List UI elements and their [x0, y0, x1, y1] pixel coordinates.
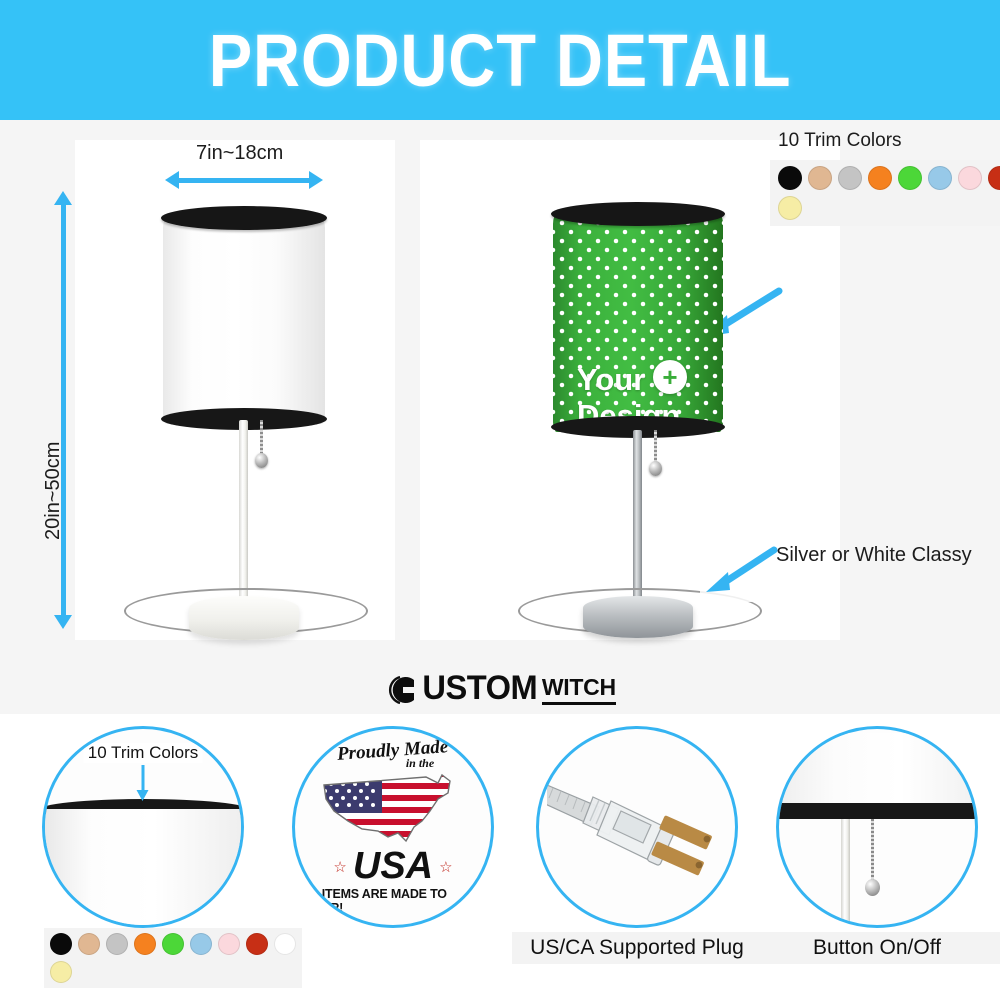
- base-pointer-arrow: [700, 540, 780, 602]
- swatch-green[interactable]: [898, 166, 922, 190]
- swatch-pink-b[interactable]: [218, 933, 240, 955]
- base-material-label: Silver or White Classy: [776, 544, 972, 567]
- star-left-icon: ☆: [333, 858, 346, 876]
- pull-chain-green: [654, 430, 657, 464]
- swatch-orange-b[interactable]: [134, 933, 156, 955]
- lamp-shade-plain: [163, 206, 325, 424]
- lamp-base-white: [189, 596, 299, 640]
- lamp-shade-green: Your Design +: [553, 202, 723, 434]
- brand-name-secondary: WITCH: [542, 674, 616, 705]
- swatch-tan[interactable]: [808, 166, 832, 190]
- height-dimension-arrow: [61, 204, 66, 616]
- feature-panels: 10 Trim Colors: [0, 714, 1000, 1000]
- feature-switch: Button On/Off: [752, 714, 1000, 1000]
- brand-name-primary: USTOM: [423, 669, 538, 708]
- pull-chain-ball-closeup[interactable]: [865, 879, 880, 896]
- usa-map-icon: [318, 771, 468, 849]
- swatch-pink[interactable]: [958, 166, 982, 190]
- pull-chain-ball[interactable]: [255, 453, 268, 468]
- pull-chain: [260, 420, 263, 456]
- trim-color-swatches: [770, 160, 1000, 226]
- swatch-gray[interactable]: [838, 166, 862, 190]
- shade-trim-top-green: [551, 202, 725, 226]
- swatch-light-blue[interactable]: [928, 166, 952, 190]
- swatch-light-blue-b[interactable]: [190, 933, 212, 955]
- shade-closeup: [776, 733, 978, 805]
- feature-circle-switch: [776, 726, 978, 928]
- swatch-red-b[interactable]: [246, 933, 268, 955]
- shade-surface: [163, 218, 325, 424]
- star-right-icon: ☆: [439, 858, 452, 876]
- power-plug-icon: [547, 759, 729, 899]
- swatch-cream-b[interactable]: [50, 961, 72, 983]
- design-text-line1: Your: [553, 362, 747, 398]
- usa-headline: USA: [353, 847, 433, 885]
- feature-caption-plug: US/CA Supported Plug: [512, 932, 762, 964]
- swatch-cream[interactable]: [778, 196, 802, 220]
- brand-monogram-icon: [384, 672, 420, 708]
- width-dimension-label: 7in~18cm: [196, 142, 283, 165]
- feature-trim-label: 10 Trim Colors: [84, 743, 203, 763]
- feature-circle-usa: Proudly Made in the: [292, 726, 494, 928]
- header-banner: PRODUCT DETAIL: [0, 0, 1000, 120]
- lamp-base-silver: [583, 596, 693, 638]
- swatch-green-b[interactable]: [162, 933, 184, 955]
- swatch-row-1-bottom: [50, 933, 296, 955]
- product-showcase: 10 Trim Colors: [0, 120, 1000, 660]
- trim-down-arrow-icon: [142, 765, 145, 791]
- feature-plug: US/CA Supported Plug: [512, 714, 762, 1000]
- swatch-gray-b[interactable]: [106, 933, 128, 955]
- plus-icon[interactable]: +: [653, 360, 687, 394]
- feature-trim-swatches: [44, 928, 302, 988]
- width-dimension-arrow: [178, 178, 310, 183]
- shade-surface-green: Your Design +: [553, 214, 723, 432]
- swatch-row-2: [778, 196, 1000, 220]
- swatch-black-b[interactable]: [50, 933, 72, 955]
- pull-chain-closeup: [871, 819, 874, 881]
- swatch-row-2-bottom: [50, 961, 296, 983]
- swatch-black[interactable]: [778, 166, 802, 190]
- feature-circle-plug: [536, 726, 738, 928]
- feature-caption-switch: Button On/Off: [752, 932, 1000, 964]
- pull-chain-ball-green[interactable]: [649, 461, 662, 476]
- feature-circle-trim: 10 Trim Colors: [42, 726, 244, 928]
- swatch-orange[interactable]: [868, 166, 892, 190]
- usa-headline-row: ☆ USA ☆: [333, 849, 452, 885]
- trim-colors-label: 10 Trim Colors: [778, 130, 902, 152]
- usa-footer-text: ALL ITEMS ARE MADE TO ORDER!: [295, 887, 491, 915]
- feature-trim-colors: 10 Trim Colors: [18, 714, 268, 1000]
- feature-made-in-usa: Proudly Made in the: [268, 714, 518, 1000]
- trim-bar-closeup: [776, 803, 978, 819]
- shade-trim-top: [161, 206, 327, 230]
- swatch-red[interactable]: [988, 166, 1000, 190]
- brand-logo: USTOM WITCH: [0, 662, 1000, 714]
- swatch-tan-b[interactable]: [78, 933, 100, 955]
- shade-body-closeup: [42, 809, 244, 928]
- pole-closeup: [841, 819, 850, 928]
- page-title: PRODUCT DETAIL: [209, 18, 792, 103]
- infographic-canvas: PRODUCT DETAIL 10 Trim Colors: [0, 0, 1000, 1000]
- swatch-row-1: [778, 166, 1000, 190]
